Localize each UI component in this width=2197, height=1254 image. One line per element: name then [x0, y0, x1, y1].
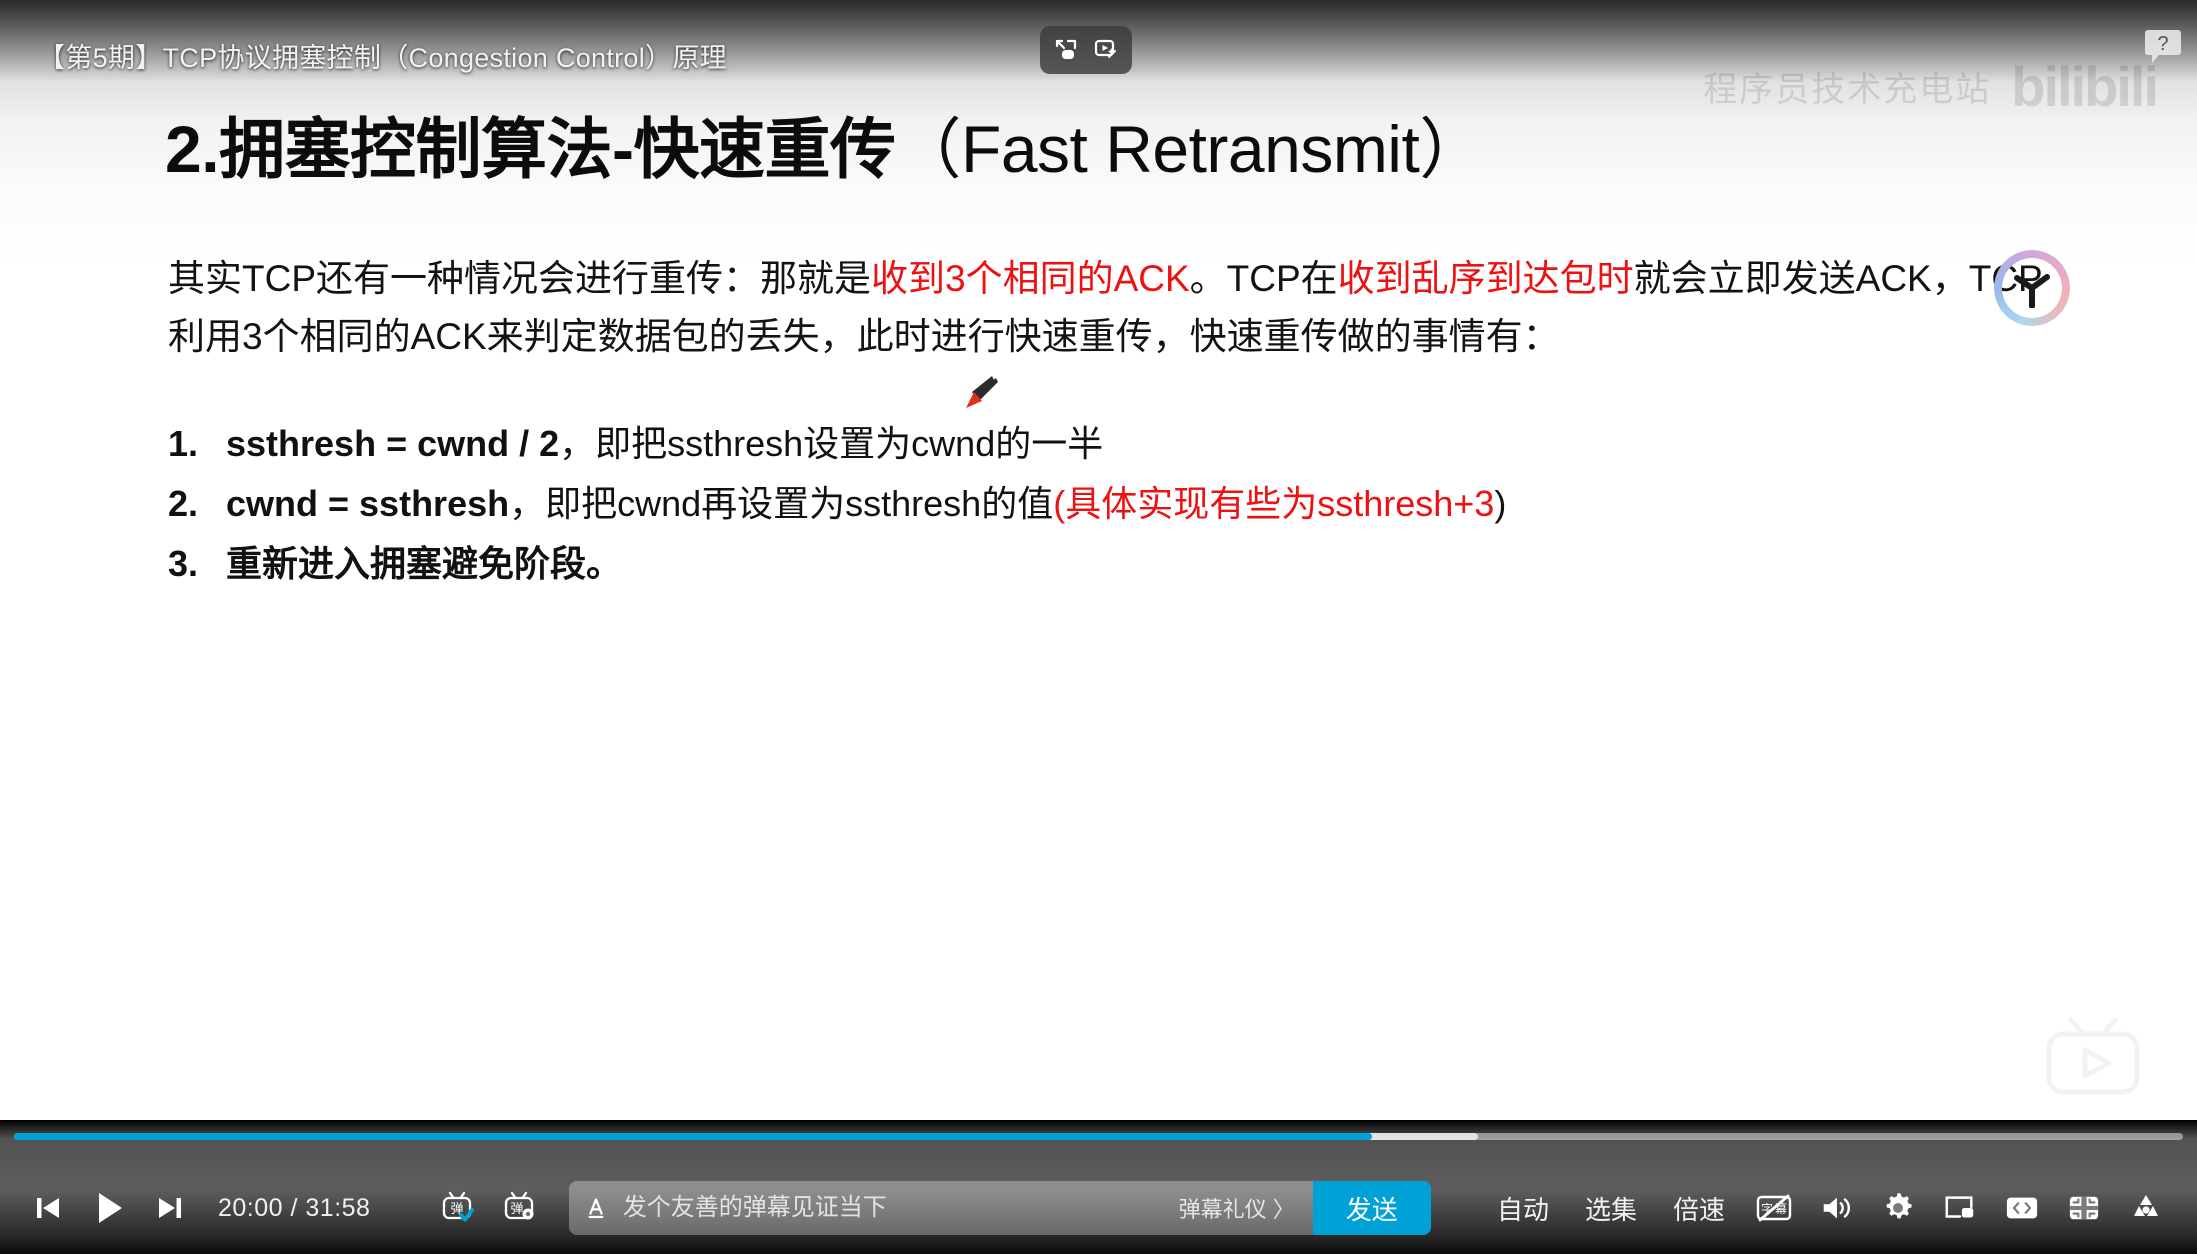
- list-item-bold: cwnd = ssthresh: [226, 483, 509, 524]
- list-item-red: (具体实现有些为ssthresh+3: [1053, 483, 1494, 524]
- help-icon[interactable]: ?: [2143, 26, 2183, 66]
- list-item-rest: ，即把cwnd再设置为ssthresh的值: [509, 483, 1053, 524]
- slide-title-en: （Fast Retransmit）: [896, 112, 1485, 186]
- widescreen-icon[interactable]: [1993, 1182, 2051, 1234]
- list-item: 2. cwnd = ssthresh，即把cwnd再设置为ssthresh的值(…: [168, 475, 2068, 533]
- list-item-bold: ssthresh = cwnd / 2: [226, 423, 559, 464]
- progress-bar[interactable]: [14, 1128, 2183, 1144]
- send-danmaku-button[interactable]: 发送: [1313, 1181, 1431, 1235]
- settings-gear-icon[interactable]: [1869, 1182, 1927, 1234]
- video-player: 程序员技术充电站 bilibili 2.拥塞控制算法-快速重传（Fast Ret…: [0, 0, 2197, 1254]
- slide-numbered-list: 1. ssthresh = cwnd / 2，即把ssthresh设置为cwnd…: [168, 415, 2068, 595]
- control-row: 20:00 / 31:58 弹: [0, 1172, 2197, 1244]
- paragraph-segment-1: 其实TCP还有一种情况会进行重传：那就是: [168, 258, 871, 299]
- list-item-rest: ，即把ssthresh设置为cwnd的一半: [559, 423, 1103, 464]
- video-clip-icon[interactable]: [1089, 33, 1123, 67]
- progress-fill: [14, 1133, 1372, 1140]
- right-controls-group: 自动 选集 倍速 字 幕: [1481, 1182, 2175, 1234]
- list-item-number: 1.: [168, 415, 226, 473]
- list-item: 1. ssthresh = cwnd / 2，即把ssthresh设置为cwnd…: [168, 415, 2068, 473]
- watermark-text: 程序员技术充电站: [1703, 62, 1991, 111]
- episodes-selector[interactable]: 选集: [1569, 1190, 1653, 1227]
- bilibili-watermark: 程序员技术充电站 bilibili: [1557, 46, 2157, 126]
- watermark-logo: bilibili: [2011, 54, 2157, 119]
- danmaku-input[interactable]: [623, 1181, 1161, 1235]
- paragraph-highlight-2: 收到乱序到达包时: [1338, 258, 1634, 299]
- svg-text:弹: 弹: [510, 1202, 523, 1217]
- pen-cursor-icon: [956, 374, 1000, 414]
- picture-in-picture-icon[interactable]: [1931, 1182, 1989, 1234]
- list-item-body: cwnd = ssthresh，即把cwnd再设置为ssthresh的值(具体实…: [226, 475, 1506, 533]
- mini-player-icon[interactable]: [1049, 33, 1083, 67]
- list-item-bold: 重新进入拥塞避免阶段。: [226, 543, 622, 584]
- player-control-bar: 20:00 / 31:58 弹: [0, 1120, 2197, 1254]
- volume-icon[interactable]: [1807, 1182, 1865, 1234]
- previous-button[interactable]: [22, 1182, 74, 1234]
- fullscreen-icon[interactable]: [2117, 1182, 2175, 1234]
- subtitle-off-icon[interactable]: 字 幕: [1745, 1182, 1803, 1234]
- danmaku-etiquette-link[interactable]: 弹幕礼仪 〉: [1161, 1192, 1313, 1224]
- top-tools-group: [1040, 26, 1132, 74]
- list-item-number: 3.: [168, 535, 226, 593]
- list-item-number: 2.: [168, 475, 226, 533]
- quality-selector[interactable]: 自动: [1481, 1190, 1565, 1227]
- bilibili-tv-watermark-icon: [2033, 1012, 2153, 1102]
- help-label: ?: [2157, 33, 2168, 55]
- slide-paragraph: 其实TCP还有一种情况会进行重传：那就是收到3个相同的ACK。TCP在收到乱序到…: [168, 250, 2068, 366]
- web-fullscreen-icon[interactable]: [2055, 1182, 2113, 1234]
- danmaku-toggle-icon[interactable]: 弹: [431, 1182, 483, 1234]
- slide-title: 2.拥塞控制算法-快速重传（Fast Retransmit）: [165, 96, 1485, 192]
- paragraph-segment-2: 。TCP在: [1190, 258, 1338, 299]
- slide-title-cn: 2.拥塞控制算法-快速重传: [165, 112, 896, 186]
- playback-speed-selector[interactable]: 倍速: [1657, 1190, 1741, 1227]
- danmaku-style-icon[interactable]: [569, 1181, 623, 1235]
- video-slide-content: 程序员技术充电站 bilibili 2.拥塞控制算法-快速重传（Fast Ret…: [0, 0, 2197, 1120]
- list-item-body: ssthresh = cwnd / 2，即把ssthresh设置为cwnd的一半: [226, 415, 1103, 473]
- play-button[interactable]: [74, 1182, 144, 1234]
- danmaku-settings-icon[interactable]: 弹: [493, 1182, 545, 1234]
- danmaku-group: 弹 弹: [431, 1181, 1431, 1235]
- list-item-tail: ): [1494, 483, 1506, 524]
- danmaku-input-wrapper: 弹幕礼仪 〉 发送: [569, 1181, 1431, 1235]
- list-item: 3. 重新进入拥塞避免阶段。: [168, 535, 2068, 593]
- paragraph-highlight-1: 收到3个相同的ACK: [871, 258, 1190, 299]
- time-display: 20:00 / 31:58: [218, 1194, 370, 1223]
- next-button[interactable]: [144, 1182, 196, 1234]
- list-item-body: 重新进入拥塞避免阶段。: [226, 535, 622, 593]
